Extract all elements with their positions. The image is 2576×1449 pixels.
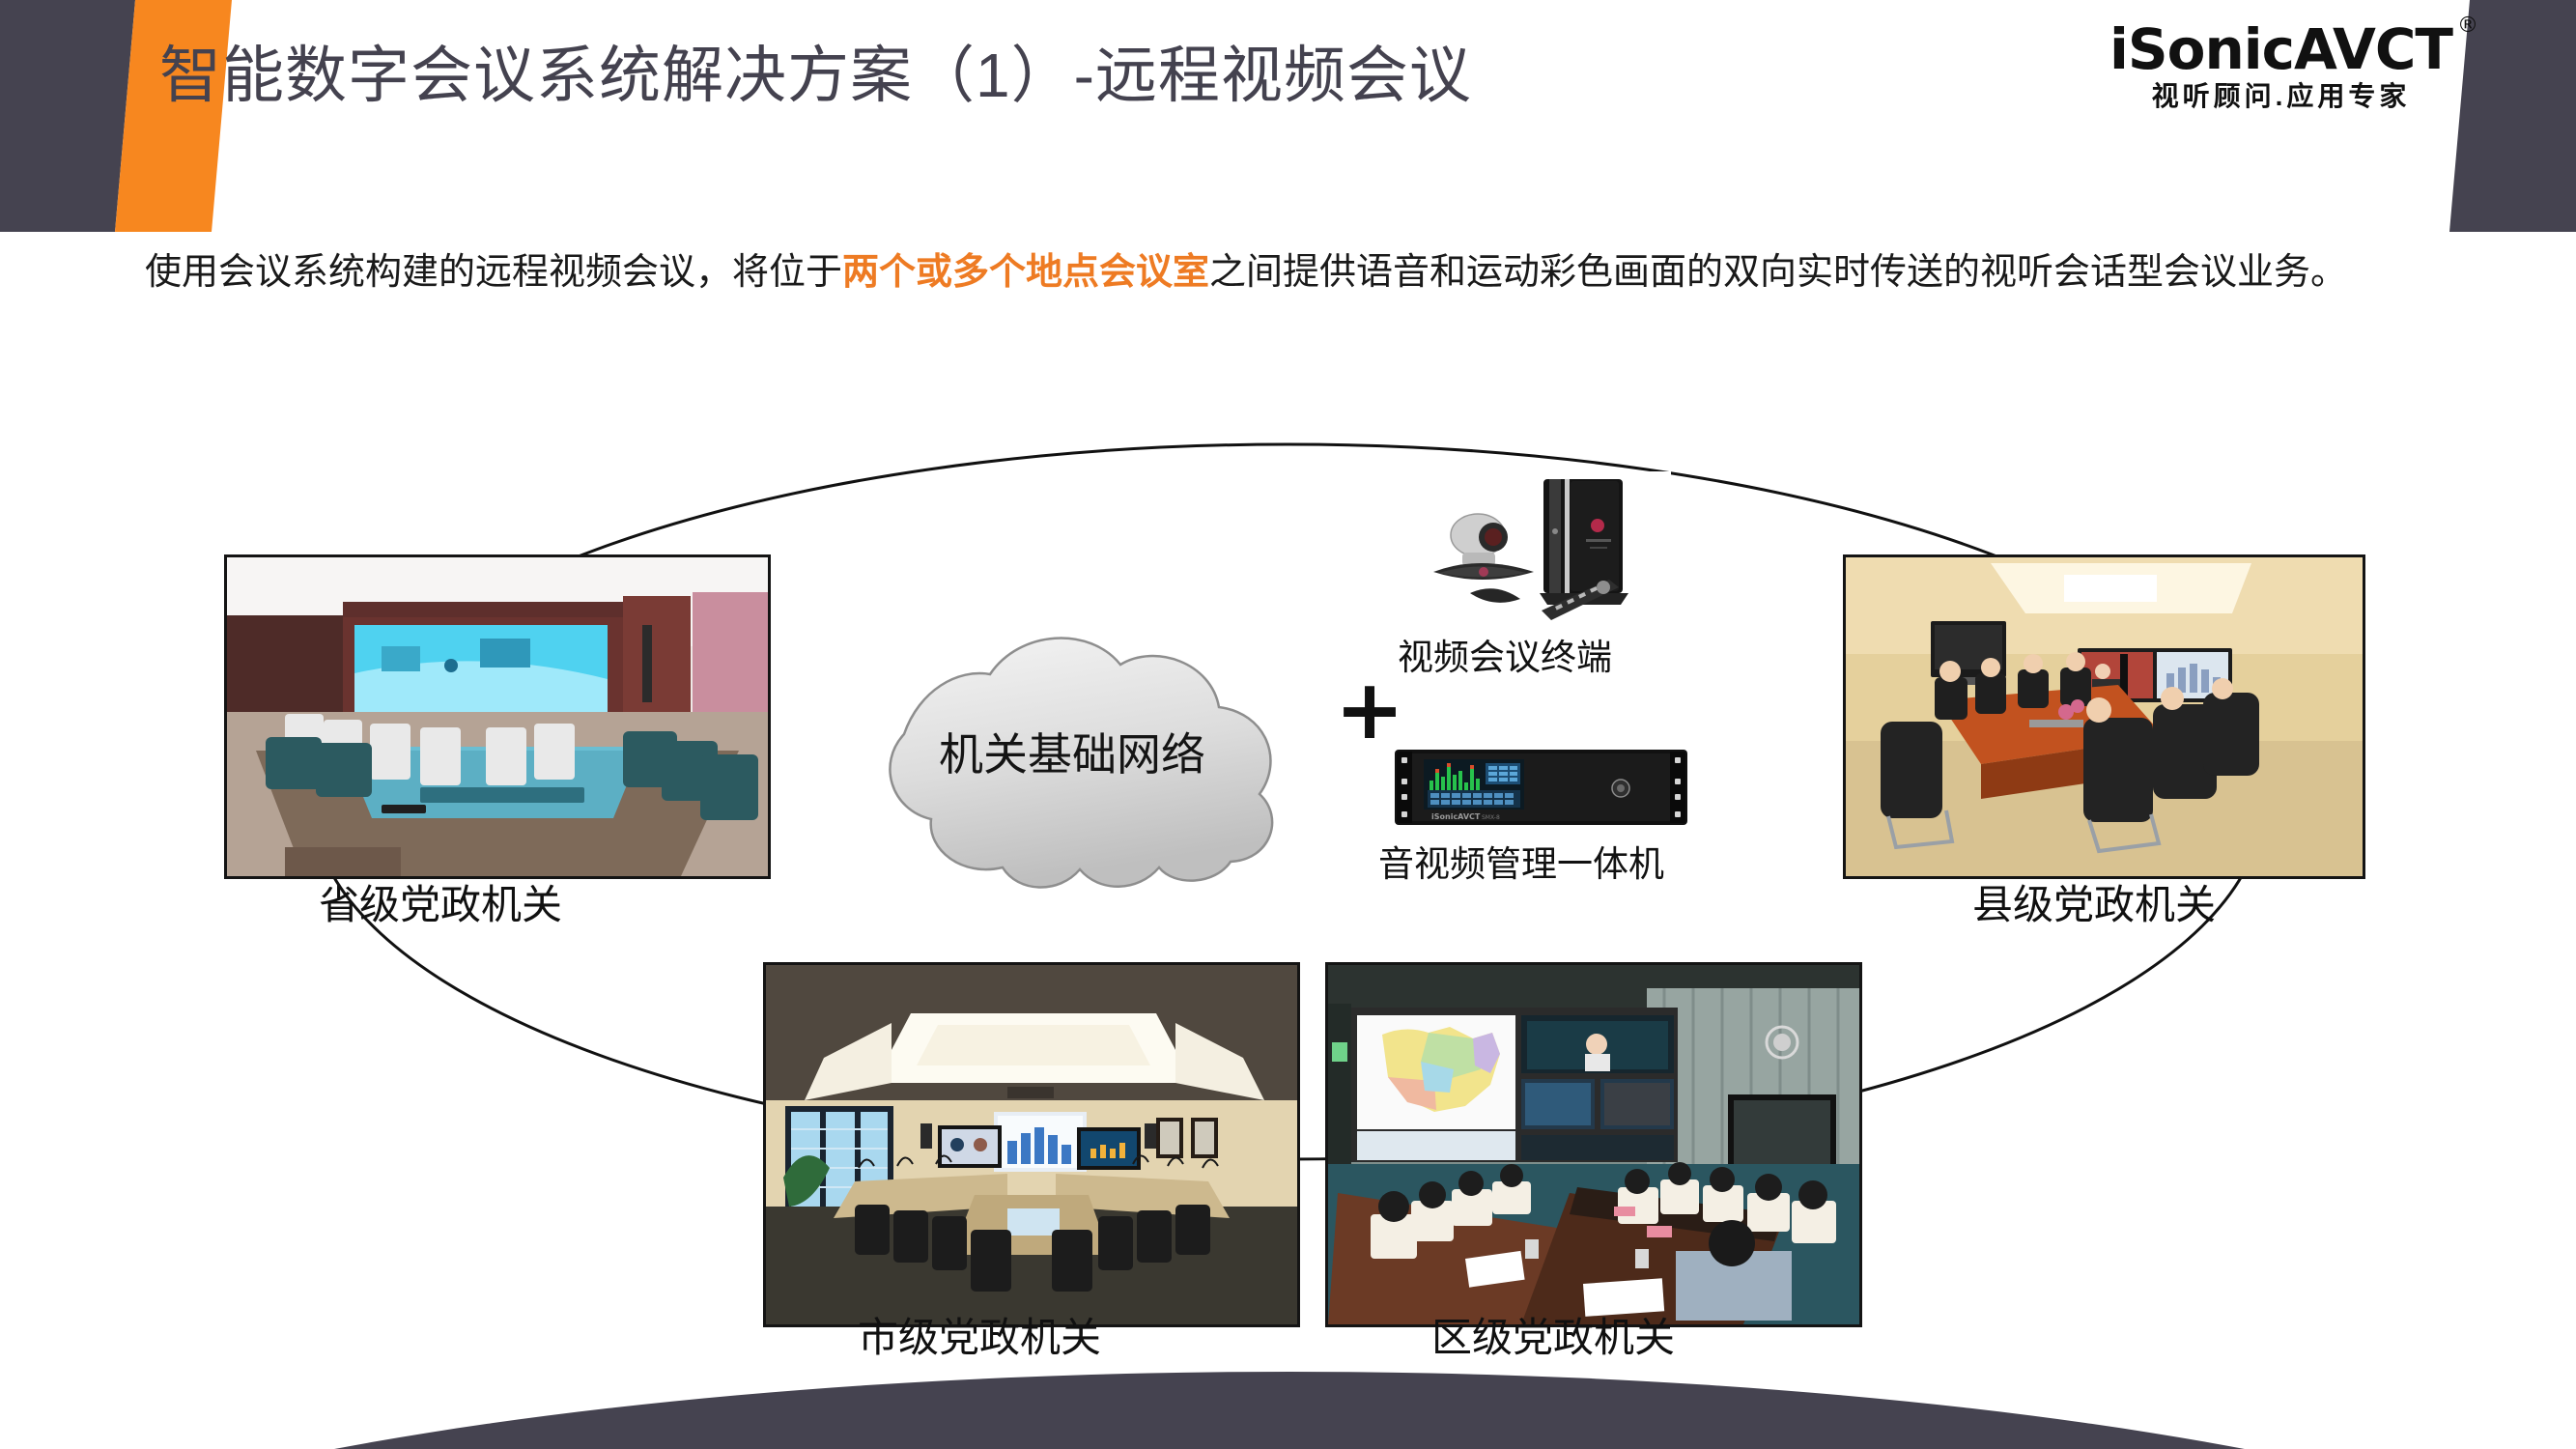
brand-logo: iSonicAVCT ® 视听顾问.应用专家 xyxy=(2109,21,2452,110)
caption-municipal: 市级党政机关 xyxy=(858,1318,1101,1358)
header-dark-stripe-left xyxy=(0,0,135,232)
equipment-label-appliance: 音视频管理一体机 xyxy=(1378,846,1664,882)
logo-wordmark: iSonicAVCT ® xyxy=(2109,21,2452,77)
municipal-room-scene xyxy=(766,965,1297,1324)
av-management-appliance-image: iSonicAVCT SMX-8 xyxy=(1389,742,1693,837)
svg-text:iSonicAVCT: iSonicAVCT xyxy=(1431,812,1481,821)
caption-county: 县级党政机关 xyxy=(1972,885,2216,925)
header-orange-stripe xyxy=(115,0,232,232)
subtitle-tail: 之间提供语音和运动彩色画面的双向实时传送的视听会话型会议业务。 xyxy=(1209,252,2347,293)
subtitle-paragraph: 使用会议系统构建的远程视频会议，将位于两个或多个地点会议室之间提供语音和运动彩色… xyxy=(145,249,2347,297)
page-title: 智能数字会议系统解决方案（1）-远程视频会议 xyxy=(159,37,1472,114)
provincial-room-scene xyxy=(227,557,768,876)
subtitle-lead: 使用会议系统构建的远程视频会议，将位于 xyxy=(145,252,842,293)
logo-tagline: 视听顾问.应用专家 xyxy=(2109,83,2452,110)
slide-canvas: 智能数字会议系统解决方案（1）-远程视频会议 iSonicAVCT ® 视听顾问… xyxy=(0,0,2576,1449)
network-cloud: 机关基础网络 xyxy=(831,618,1314,908)
plus-icon: + xyxy=(1335,668,1404,752)
site-photo-county[interactable] xyxy=(1843,554,2365,879)
footer-arc-decoration xyxy=(0,1372,2576,1449)
site-photo-provincial[interactable] xyxy=(224,554,771,879)
caption-district: 区级党政机关 xyxy=(1431,1318,1675,1358)
site-photo-district[interactable] xyxy=(1325,962,1862,1327)
caption-provincial: 省级党政机关 xyxy=(319,885,562,925)
equipment-label-terminal: 视频会议终端 xyxy=(1398,639,1612,675)
county-room-scene xyxy=(1846,557,2363,876)
cloud-label: 机关基础网络 xyxy=(831,732,1314,777)
district-room-scene xyxy=(1328,965,1859,1324)
svg-text:SMX-8: SMX-8 xyxy=(1482,814,1500,821)
video-conference-terminal-image xyxy=(1420,471,1671,636)
logo-wordmark-text: iSonicAVCT xyxy=(2109,16,2452,82)
site-photo-municipal[interactable] xyxy=(763,962,1300,1327)
subtitle-highlight: 两个或多个地点会议室 xyxy=(842,252,1209,293)
registered-trademark-icon: ® xyxy=(2457,15,2477,37)
